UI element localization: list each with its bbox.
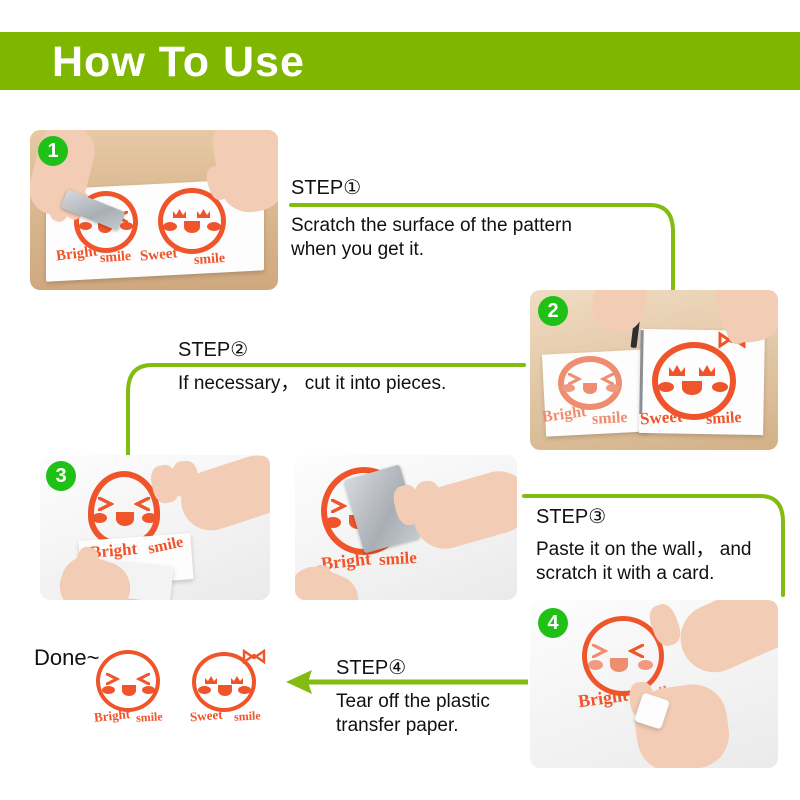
step-4-title: STEP④ [336, 655, 406, 680]
decal-word-sweet: Sweet [189, 707, 223, 726]
step-1-title: STEP① [291, 175, 361, 200]
badge-step-1: 1 [38, 136, 68, 166]
finished-sticker-bright: Bright smile [92, 650, 168, 730]
photo-step-2: Bright smile Sweet smile 2 [530, 290, 778, 450]
decal-word-smile: smile [234, 708, 261, 724]
step-2-body: If necessary， cut it into pieces. [178, 372, 518, 396]
step-3-body: Paste it on the wall， and scratch it wit… [536, 538, 786, 586]
arrow-head-icon [286, 670, 312, 694]
step-4-body-line2: transfer paper. [336, 714, 556, 738]
decal-word-smile: smile [99, 249, 131, 267]
decal-word-smile: smile [379, 548, 418, 570]
badge-step-4: 4 [538, 608, 568, 638]
decal-word-bright: Bright [577, 685, 629, 713]
step-2-title: STEP② [178, 337, 248, 362]
decal-word-smile-2: smile [193, 251, 225, 269]
step-3-body-line1: Paste it on the wall， and [536, 538, 786, 562]
how-to-use-infographic: How To Use [0, 0, 800, 800]
decal-word-sweet: Sweet [639, 407, 683, 430]
decal-word-sweet: Sweet [139, 245, 178, 265]
step-1-body-line2: when you get it. [291, 238, 621, 262]
step-1-body-line1: Scratch the surface of the pattern [291, 214, 621, 238]
decal-word-smile: smile [592, 409, 628, 429]
photo-step-1: Bright smile Sweet smile 1 [30, 130, 278, 290]
photo-step-4: Bright smile [295, 455, 517, 600]
step-3-body-line2: scratch it with a card. [536, 562, 786, 586]
step-1-body: Scratch the surface of the pattern when … [291, 214, 621, 262]
step-2-body-line1: If necessary， cut it into pieces. [178, 372, 518, 396]
page-title: How To Use [52, 40, 305, 84]
photo-step-5: Bright smile 4 [530, 600, 778, 768]
step-4-body-line1: Tear off the plastic [336, 690, 556, 714]
photo-step-3: Bright smile 3 [40, 455, 270, 600]
decal-word-smile-2: smile [706, 409, 742, 429]
badge-step-2: 2 [538, 296, 568, 326]
decal-word-smile: smile [136, 709, 163, 725]
step-4-body: Tear off the plastic transfer paper. [336, 690, 556, 738]
done-label: Done~ [34, 645, 99, 671]
finished-sticker-sweet: Sweet smile [188, 648, 272, 730]
step-3-title: STEP③ [536, 504, 606, 529]
decal-word-bright: Bright [93, 706, 131, 726]
badge-step-3: 3 [46, 461, 76, 491]
